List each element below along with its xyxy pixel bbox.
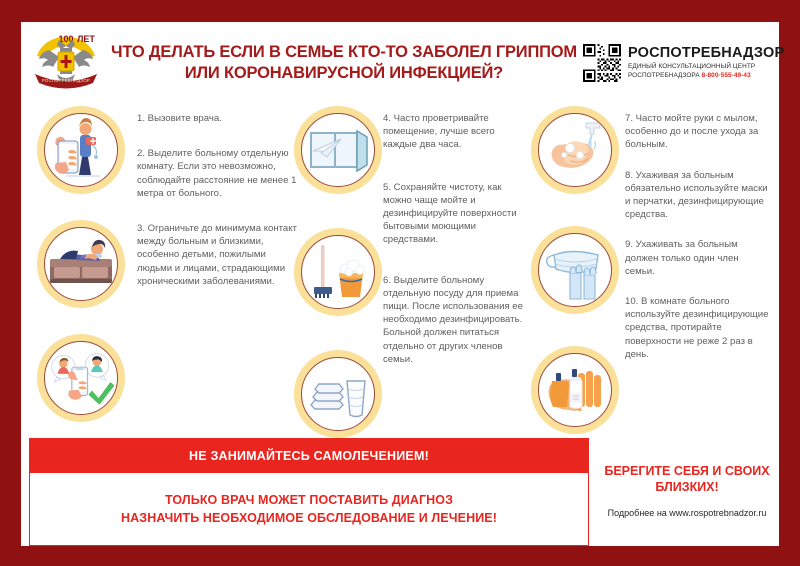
step-8: 8. Ухаживая за больным обязательно испол…: [625, 169, 771, 222]
step-2: 2. Выделите больному отдельную комнату. …: [137, 147, 297, 200]
poster-footer: НЕ ЗАНИМАЙТЕСЬ САМОЛЕЧЕНИЕМ! ТОЛЬКО ВРАЧ…: [21, 438, 779, 546]
poster-title: ЧТО ДЕЛАТЬ ЕСЛИ В СЕМЬЕ КТО-ТО ЗАБОЛЕЛ Г…: [105, 42, 583, 84]
step-10: 10. В комнате больного используйте дезин…: [625, 295, 771, 361]
brand-name: РОСПОТРЕБНАДЗОР: [628, 46, 784, 62]
step-9: 9. Ухаживать за больным должен только од…: [625, 238, 771, 278]
hotline-number: 8-800-555-49-43: [702, 72, 751, 79]
banner-body-line-1: ТОЛЬКО ВРАЧ МОЖЕТ ПОСТАВИТЬ ДИАГНОЗ: [165, 491, 453, 509]
step-3: 3. Ограничьте до минимума контакт между …: [137, 222, 297, 288]
step-5: 5. Сохраняйте чистоту, как можно чаще мо…: [383, 181, 529, 247]
step-7: 7. Часто мойте руки с мылом, особенно до…: [625, 112, 771, 152]
steps-columns: 1. Вызовите врача. 2. Выделите больному …: [21, 100, 779, 442]
steps-column-1: 1. Вызовите врача. 2. Выделите больному …: [29, 104, 297, 442]
website-link[interactable]: Подробнее на www.rospotrebnadzor.ru: [608, 508, 767, 518]
sick-person-on-sofa-icon: [37, 220, 125, 308]
qr-code-icon: [583, 44, 621, 82]
closing-block: БЕРЕГИТЕ СЕБЯ И СВОИХ БЛИЗКИХ! Подробнее…: [589, 438, 771, 546]
banner-body: ТОЛЬКО ВРАЧ МОЖЕТ ПОСТАВИТЬ ДИАГНОЗ НАЗН…: [30, 473, 588, 545]
title-line-1: ЧТО ДЕЛАТЬ ЕСЛИ В СЕМЬЕ КТО-ТО ЗАБОЛЕЛ Г…: [111, 42, 577, 63]
closing-title-line-2: БЛИЗКИХ!: [655, 479, 718, 495]
title-line-2: ИЛИ КОРОНАВИРУСНОЙ ИНФЕКЦИЕЙ?: [111, 63, 577, 84]
closing-title-line-1: БЕРЕГИТЕ СЕБЯ И СВОИХ: [604, 463, 769, 479]
steps-column-3: 7. Часто мойте руки с мылом, особенно до…: [529, 104, 771, 442]
column-2-icons: [297, 104, 379, 442]
svg-text:ЛЕТ: ЛЕТ: [77, 34, 95, 44]
poster-frame: 100 ЛЕТ РОСПОТРЕБНАДЗОР: [0, 0, 800, 566]
brand-block: РОСПОТРЕБНАДЗОР ЕДИНЫЙ КОНСУЛЬТАЦИОННЫЙ …: [583, 44, 788, 82]
column-1-icons: [29, 104, 133, 442]
step-4: 4. Часто проветривайте помещение, лучше …: [383, 112, 529, 152]
warning-banner: НЕ ЗАНИМАЙТЕСЬ САМОЛЕЧЕНИЕМ! ТОЛЬКО ВРАЧ…: [29, 438, 589, 546]
banner-body-line-2: НАЗНАЧИТЬ НЕОБХОДИМОЕ ОБСЛЕДОВАНИЕ И ЛЕЧ…: [121, 509, 497, 527]
poster-header: 100 ЛЕТ РОСПОТРЕБНАДЗОР: [21, 22, 779, 100]
steps-column-2: 4. Часто проветривайте помещение, лучше …: [297, 104, 529, 442]
mask-and-gloves-icon: [531, 226, 619, 314]
brand-subtitle-line-2: РОСПОТРЕБНАДЗОРА 8-800-555-49-43: [628, 73, 784, 80]
column-3-steps: 7. Часто мойте руки с мылом, особенно до…: [621, 104, 771, 442]
column-1-steps: 1. Вызовите врача. 2. Выделите больному …: [133, 104, 297, 442]
banner-headline: НЕ ЗАНИМАЙТЕСЬ САМОЛЕЧЕНИЕМ!: [30, 439, 588, 473]
poster-sheet: 100 ЛЕТ РОСПОТРЕБНАДЗОР: [21, 22, 779, 546]
mop-and-bucket-icon: [294, 228, 382, 316]
video-call-contact-icon: [37, 334, 125, 422]
washing-hands-icon: [531, 106, 619, 194]
brand-subtitle-line-1: ЕДИНЫЙ КОНСУЛЬТАЦИОННЫЙ ЦЕНТР: [628, 64, 784, 71]
disinfectant-bottles-icon: [531, 346, 619, 434]
separate-dishes-icon: [294, 350, 382, 438]
column-3-icons: [529, 104, 621, 442]
brand-subtitle-text: РОСПОТРЕБНАДЗОРА: [628, 72, 700, 79]
phone-doctor-call-icon: [37, 106, 125, 194]
step-6: 6. Выделите больному отдельную посуду дл…: [383, 274, 529, 366]
step-1: 1. Вызовите врача.: [137, 112, 297, 125]
svg-text:РОСПОТРЕБНАДЗОР: РОСПОТРЕБНАДЗОР: [42, 78, 90, 83]
rospotrebnadzor-emblem-icon: 100 ЛЕТ РОСПОТРЕБНАДЗОР: [27, 26, 105, 100]
open-window-ventilation-icon: [294, 106, 382, 194]
column-2-steps: 4. Часто проветривайте помещение, лучше …: [379, 104, 529, 442]
